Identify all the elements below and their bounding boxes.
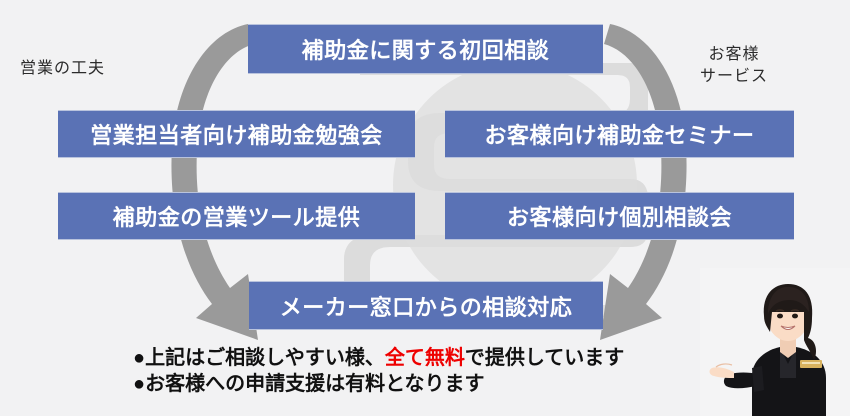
caption-customer-service: お客様 サービス (700, 44, 768, 87)
footnote-1-suffix: で提供しています (465, 347, 624, 369)
process-box-label: お客様向け補助金セミナー (484, 118, 754, 150)
footnote-1-highlight: 全て無料 (385, 347, 465, 369)
process-box-maker-desk-support[interactable]: メーカー窓口からの相談対応 (249, 281, 603, 330)
process-box-label: お客様向け個別相談会 (507, 200, 732, 232)
footnote-1-prefix: ●上記はご相談しやすい様、 (133, 347, 385, 369)
process-box-label: 補助金に関する初回相談 (302, 33, 550, 65)
footnote-line-1: ●上記はご相談しやすい様、全て無料で提供しています (133, 345, 753, 371)
process-box-customer-seminar[interactable]: お客様向け補助金セミナー (445, 110, 794, 158)
process-box-individual-consultation[interactable]: お客様向け個別相談会 (445, 192, 794, 240)
process-box-sales-tool-provision[interactable]: 補助金の営業ツール提供 (58, 192, 415, 240)
caption-sales-ingenuity: 営業の工夫 (20, 58, 105, 80)
process-box-label: 補助金の営業ツール提供 (113, 200, 361, 232)
process-box-initial-consultation[interactable]: 補助金に関する初回相談 (248, 24, 603, 74)
footnote-line-2: ●お客様への申請支援は有料となります (133, 371, 753, 397)
diagram-canvas: 補助金に関する初回相談 営業担当者向け補助金勉強会 お客様向け補助金セミナー 補… (0, 0, 850, 416)
process-box-label: 営業担当者向け補助金勉強会 (90, 118, 383, 150)
process-box-label: メーカー窓口からの相談対応 (280, 290, 573, 322)
footnotes: ●上記はご相談しやすい様、全て無料で提供しています ●お客様への申請支援は有料と… (133, 345, 753, 398)
receptionist-photo (700, 268, 850, 416)
process-box-sales-study-session[interactable]: 営業担当者向け補助金勉強会 (58, 110, 415, 158)
